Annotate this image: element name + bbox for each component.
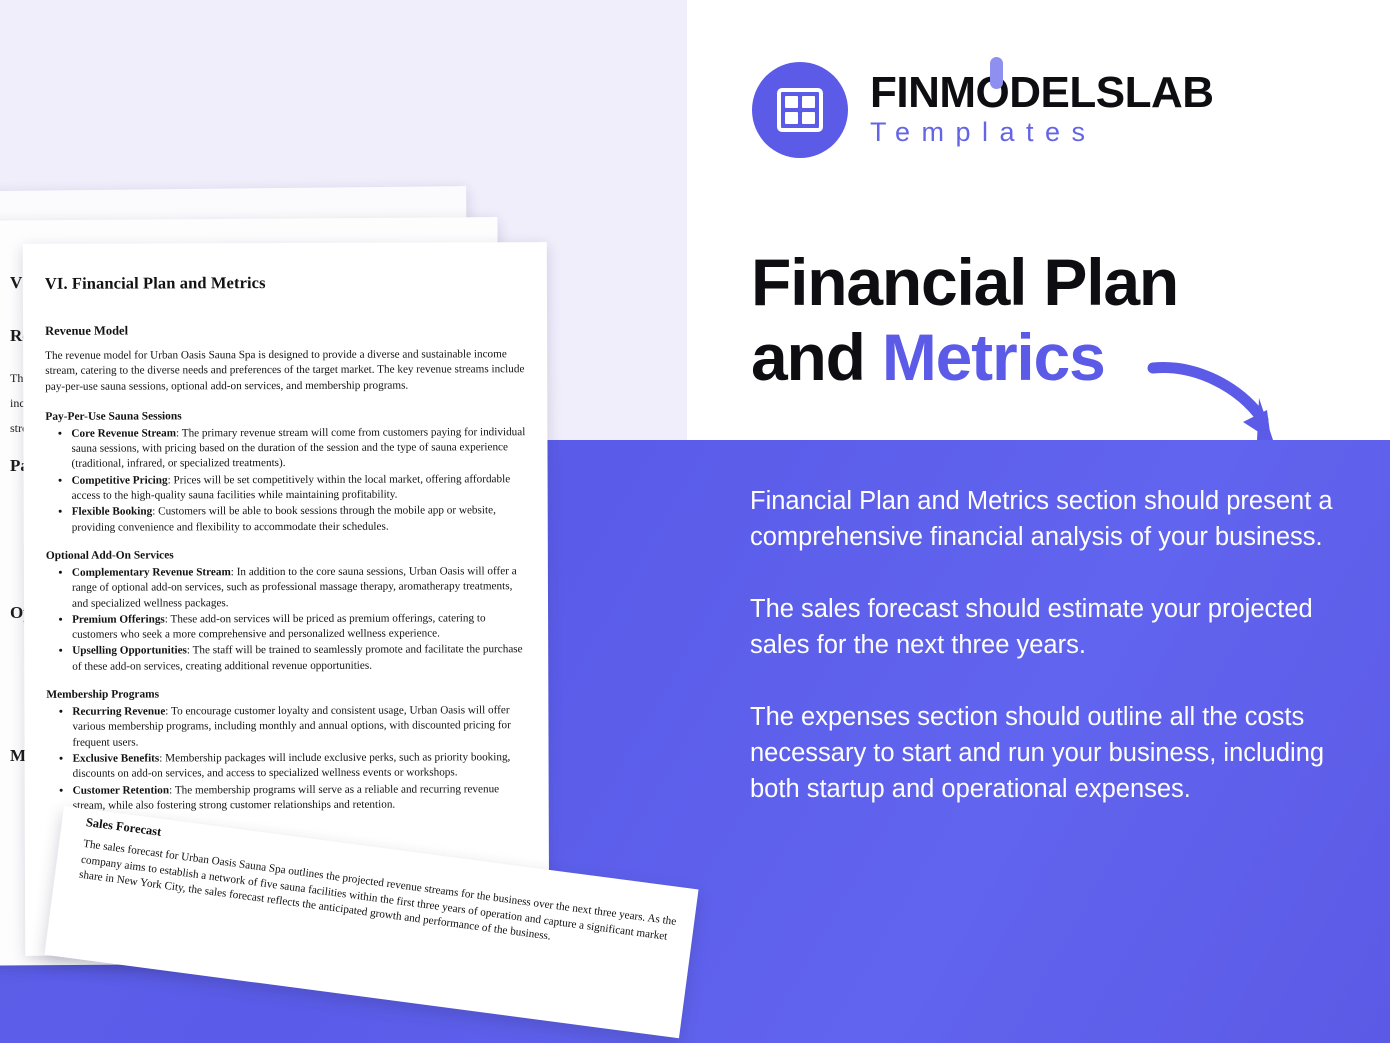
list-item-term: Core Revenue Stream: [71, 427, 176, 439]
document-group-heading: Optional Add-On Services: [46, 548, 526, 562]
page-title-line1: Financial Plan: [751, 245, 1178, 320]
list-item: Complementary Revenue Stream: In additio…: [72, 564, 526, 611]
document-bullet-list: Complementary Revenue Stream: In additio…: [46, 564, 526, 675]
list-item-term: Exclusive Benefits: [73, 752, 160, 764]
list-item-term: Flexible Booking: [72, 506, 153, 518]
document-intro-paragraph: The revenue model for Urban Oasis Sauna …: [45, 347, 525, 395]
list-item-term: Upselling Opportunities: [72, 645, 187, 657]
list-item-term: Customer Retention: [73, 784, 169, 796]
document-group-heading: Pay-Per-Use Sauna Sessions: [45, 409, 525, 423]
brand-name-text: FINMODELSLAB: [870, 68, 1214, 117]
copy-paragraph: The sales forecast should estimate your …: [750, 591, 1336, 663]
grid-squares-glyph: [777, 88, 823, 132]
grid-cell: [785, 96, 798, 108]
page-title: Financial Plan and Metrics: [751, 245, 1178, 395]
document-group: Membership Programs Recurring Revenue: T…: [46, 687, 526, 814]
brand-name: FINMODELSLAB: [870, 71, 1214, 115]
power-pin-icon: [990, 57, 1003, 89]
grid-cell: [802, 112, 815, 124]
document-group: Optional Add-On Services Complementary R…: [46, 548, 526, 675]
document-group: Pay-Per-Use Sauna Sessions Core Revenue …: [45, 409, 525, 536]
page-title-line2: and Metrics: [751, 320, 1178, 395]
page-title-line2-plain: and: [751, 320, 882, 394]
grid-cell: [802, 96, 815, 108]
list-item-term: Complementary Revenue Stream: [72, 566, 231, 579]
list-item-term: Competitive Pricing: [72, 474, 168, 486]
list-item: Core Revenue Stream: The primary revenue…: [71, 425, 525, 472]
curved-arrow-down-right-icon: [1147, 352, 1297, 447]
list-item: Premium Offerings: These add-on services…: [72, 611, 526, 643]
slide-canvas: V Re Th inc stre Pay Op M VI. Financial …: [0, 0, 1390, 1043]
list-item-term: Recurring Revenue: [72, 705, 165, 717]
list-item: Customer Retention: The membership progr…: [73, 782, 527, 814]
copy-paragraph: Financial Plan and Metrics section shoul…: [750, 483, 1336, 555]
brand-subtitle: Templates: [870, 117, 1214, 148]
document-body: VI. Financial Plan and Metrics Revenue M…: [23, 242, 549, 814]
copy-paragraph: The expenses section should outline all …: [750, 699, 1336, 807]
brand-logo: FINMODELSLAB Templates: [752, 62, 1214, 158]
list-item: Upselling Opportunities: The staff will …: [72, 643, 526, 675]
grid-squares-icon: [752, 62, 848, 158]
list-item: Flexible Booking: Customers will be able…: [72, 504, 526, 536]
page-title-line2-accent: Metrics: [882, 320, 1105, 394]
document-section-heading: Revenue Model: [45, 322, 525, 339]
list-item-term: Premium Offerings: [72, 613, 165, 625]
brand-wordmark: FINMODELSLAB Templates: [870, 71, 1214, 148]
description-copy: Financial Plan and Metrics section shoul…: [750, 483, 1336, 807]
list-item: Exclusive Benefits: Membership packages …: [73, 750, 527, 782]
grid-cell: [785, 112, 798, 124]
list-item: Recurring Revenue: To encourage customer…: [72, 703, 526, 750]
document-bullet-list: Core Revenue Stream: The primary revenue…: [45, 425, 525, 536]
document-bullet-list: Recurring Revenue: To encourage customer…: [46, 703, 526, 814]
list-item: Competitive Pricing: Prices will be set …: [72, 472, 526, 504]
document-group-heading: Membership Programs: [46, 687, 526, 701]
document-title: VI. Financial Plan and Metrics: [45, 272, 525, 294]
